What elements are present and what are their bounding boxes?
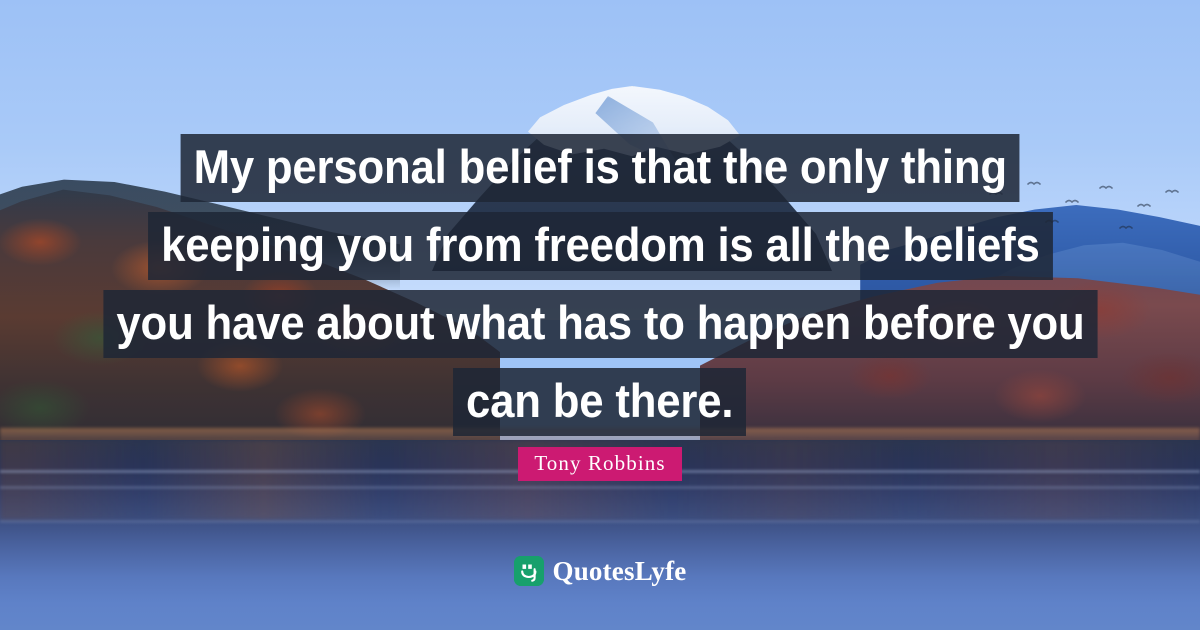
brand-name: QuotesLyfe bbox=[553, 556, 687, 586]
quote-line-text: you have about what has to happen before… bbox=[103, 290, 1097, 358]
author-name-badge: Tony Robbins bbox=[518, 447, 681, 481]
quote-mark-icon bbox=[514, 556, 544, 586]
quote-line-text: can be there. bbox=[453, 368, 746, 436]
author-attribution: Tony Robbins bbox=[0, 447, 1200, 481]
brand-logo: QuotesLyfe bbox=[0, 556, 1200, 586]
quote-line-text: keeping you from freedom is all the beli… bbox=[148, 212, 1053, 280]
quote-line: you have about what has to happen before… bbox=[0, 290, 1200, 358]
quote-card: My personal belief is that the only thin… bbox=[0, 0, 1200, 630]
quote-line: keeping you from freedom is all the beli… bbox=[0, 212, 1200, 280]
quote-line: My personal belief is that the only thin… bbox=[0, 134, 1200, 202]
quote-text-block: My personal belief is that the only thin… bbox=[0, 134, 1200, 436]
quote-line: can be there. bbox=[0, 368, 1200, 436]
water-ripple-band bbox=[0, 486, 1200, 489]
quote-line-text: My personal belief is that the only thin… bbox=[180, 134, 1019, 202]
water-ripple-band bbox=[0, 520, 1200, 523]
